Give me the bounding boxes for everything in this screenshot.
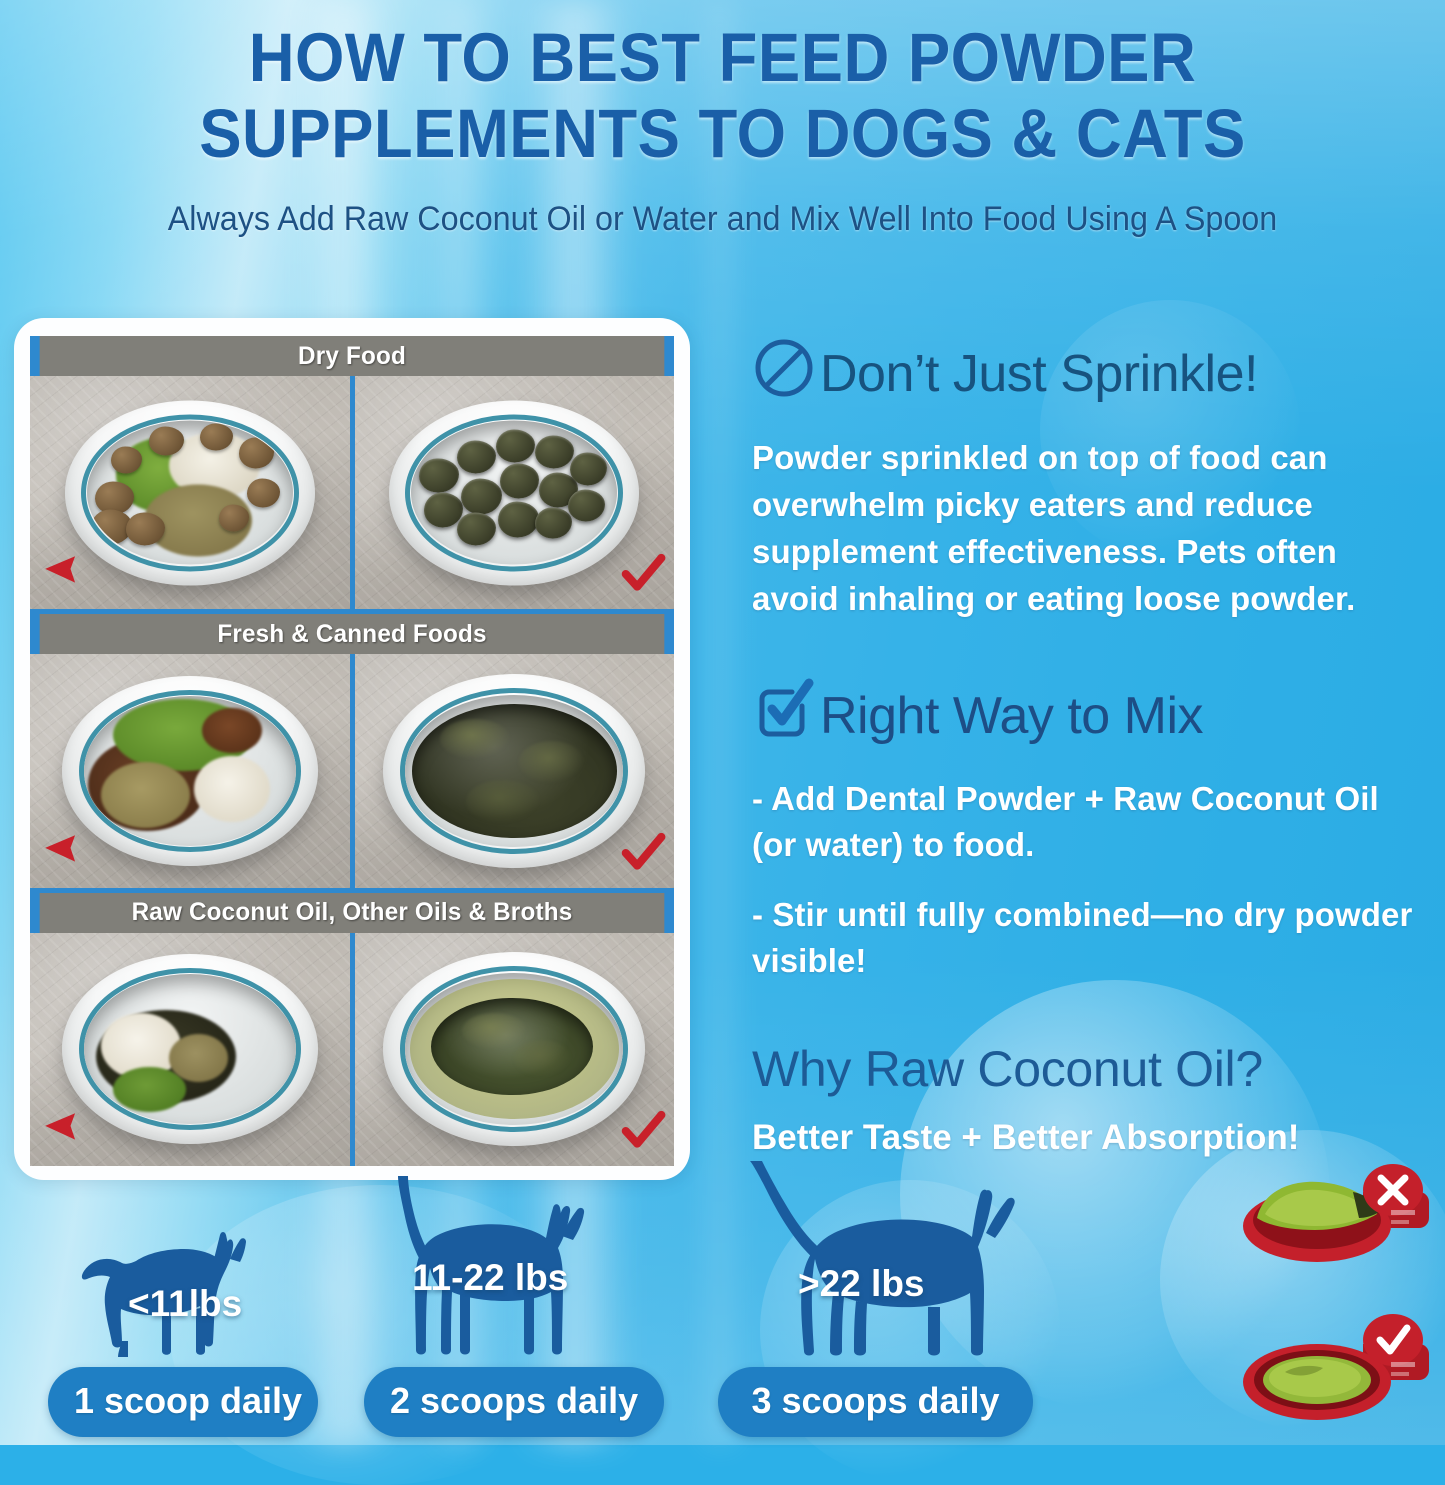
page-title-line-1: HOW TO BEST FEED POWDER [58,20,1387,96]
header: HOW TO BEST FEED POWDER SUPPLEMENTS TO D… [0,0,1445,300]
why-coconut-heading: Why Raw Coconut Oil? [752,1040,1420,1098]
food-row-dry: Dry Food [30,336,674,609]
photo-dry-mixed [355,376,675,609]
food-row-fresh-canned: Fresh & Canned Foods [30,614,674,887]
right-way-bullet-1: - Add Dental Powder + Raw Coconut Oil (o… [752,776,1420,868]
dont-sprinkle-heading-row: Don’t Just Sprinkle! [752,336,1420,412]
prohibition-icon [752,336,816,412]
dosage-amount-medium[interactable]: 2 scoops daily [364,1367,664,1437]
photo-grid: Dry Food [30,336,674,1166]
section-spacer [752,622,1420,678]
photo-oil-mixed [355,933,675,1166]
dosage-weight-medium: 11-22 lbs [412,1257,568,1299]
dosage-item-large: >22 lbs 3 scoops daily [708,1175,1048,1445]
scoop-examples [1225,1158,1445,1445]
photo-fresh-unmixed [30,654,350,887]
food-row-oils-broths: Raw Coconut Oil, Other Oils & Broths [30,893,674,1166]
dosage-guide: <11lbs 1 scoop daily 11-22 lbs 2 scoops … [0,1175,1100,1445]
page-title-line-2: SUPPLEMENTS TO DOGS & CATS [58,96,1387,172]
right-way-heading: Right Way to Mix [820,687,1203,745]
dosage-amount-large[interactable]: 3 scoops daily [718,1367,1033,1437]
red-arrow-icon [36,1104,82,1150]
dosage-item-small: <11lbs 1 scoop daily [30,1175,330,1445]
right-way-bullets: - Add Dental Powder + Raw Coconut Oil (o… [752,776,1420,984]
red-check-icon [620,551,666,597]
checkbox-checked-icon [752,678,816,754]
page-title: HOW TO BEST FEED POWDER SUPPLEMENTS TO D… [58,0,1387,172]
photo-oil-unmixed [30,933,350,1166]
row-label-oils-broths: Raw Coconut Oil, Other Oils & Broths [40,893,665,933]
dosage-weight-small: <11lbs [128,1283,242,1325]
photo-comparison-card: Dry Food [14,318,690,1180]
dosage-amount-small[interactable]: 1 scoop daily [48,1367,318,1437]
photo-fresh-mixed [355,654,675,887]
row-label-fresh-canned-foods: Fresh & Canned Foods [40,614,665,654]
red-arrow-icon [36,826,82,872]
red-check-icon [620,1108,666,1154]
dont-sprinkle-heading: Don’t Just Sprinkle! [820,345,1258,403]
red-check-icon [620,830,666,876]
row-label-dry-food: Dry Food [40,336,665,376]
right-way-bullet-2: - Stir until fully combined—no dry powde… [752,892,1420,984]
why-coconut-subtext: Better Taste + Better Absorption! [752,1116,1420,1160]
cat-silhouette-large [730,1159,1020,1359]
scoop-overfilled [1241,1164,1445,1284]
dosage-weight-large: >22 lbs [798,1263,925,1305]
dont-sprinkle-body: Powder sprinkled on top of food can over… [752,434,1420,622]
red-arrow-icon [36,547,82,593]
section-spacer [752,984,1420,1040]
dosage-item-medium: 11-22 lbs 2 scoops daily [356,1175,676,1445]
photo-dry-unmixed [30,376,350,609]
right-way-heading-row: Right Way to Mix [752,678,1420,754]
page-subtitle: Always Add Raw Coconut Oil or Water and … [36,199,1409,239]
scoop-level [1241,1310,1445,1436]
instructions-column: Don’t Just Sprinkle! Powder sprinkled on… [752,336,1420,1160]
